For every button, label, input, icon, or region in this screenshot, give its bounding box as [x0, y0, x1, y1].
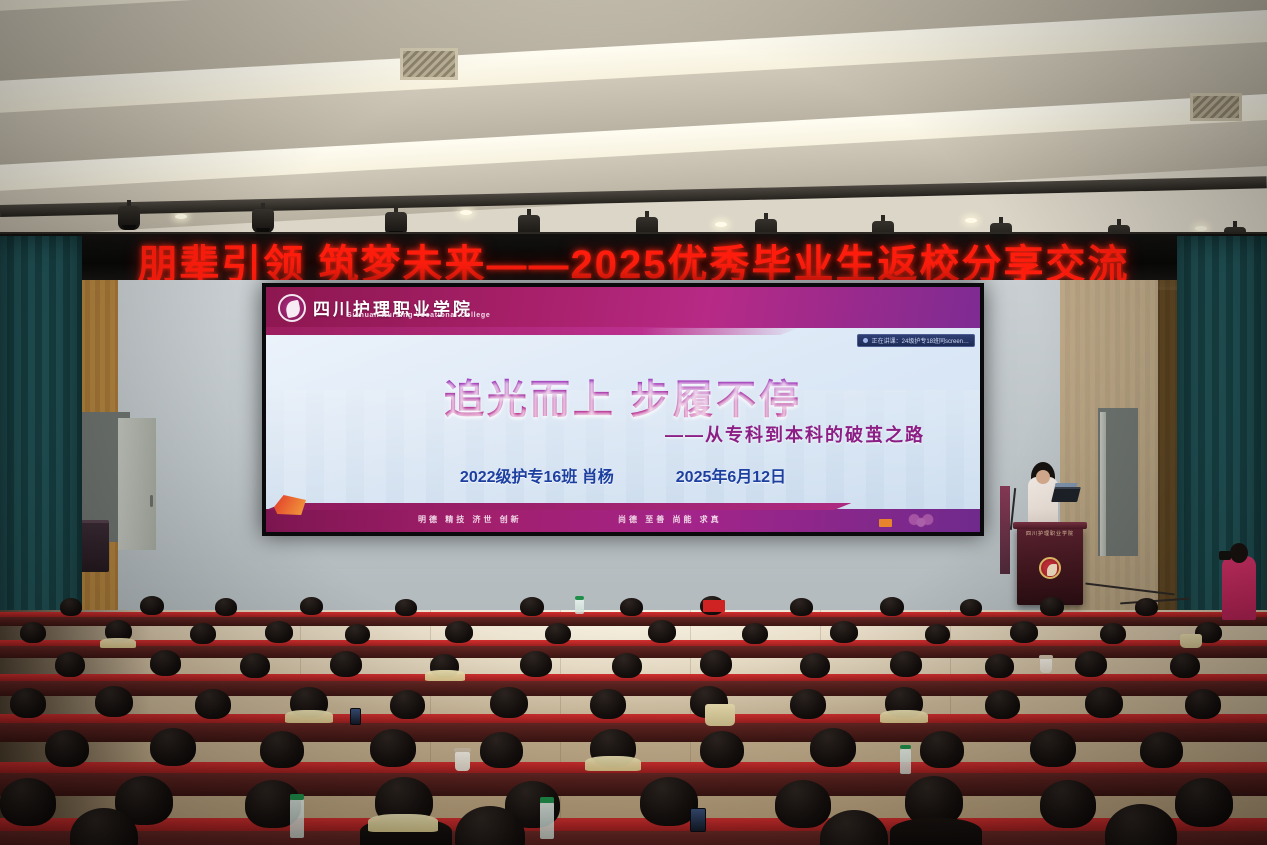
- projection-screen: 四川护理职业学院 Sichuan Nursing Vocational Coll…: [262, 283, 984, 536]
- college-logo-icon: [278, 294, 306, 322]
- college-name-en: Sichuan Nursing Vocational College: [347, 312, 490, 319]
- broadcast-dot-icon: [863, 338, 868, 343]
- podium-top: [1013, 522, 1087, 529]
- photographer-head: [1230, 543, 1248, 563]
- slide-meta: 2022级护专16班 肖杨 2025年6月12日: [266, 463, 980, 487]
- camera-icon: [1219, 551, 1231, 560]
- stage-light: [118, 200, 140, 230]
- slide-footer: 明德 精技 济世 创新 尚德 至善 尚能 求真: [266, 509, 980, 532]
- slide-title: 追光而上 步履不停: [266, 367, 980, 425]
- podium-nameplate: 四川护理职业学院: [1023, 529, 1077, 538]
- presentation-slide: 四川护理职业学院 Sichuan Nursing Vocational Coll…: [266, 287, 980, 532]
- footer-accent-tab: [879, 519, 892, 527]
- podium-laptop: [1051, 487, 1081, 502]
- audience-area: [0, 596, 1267, 845]
- slide-motto-left: 明德 精技 济世 创新: [418, 514, 522, 525]
- door-right[interactable]: [1100, 412, 1106, 556]
- ceiling-vent-right: [1190, 93, 1242, 121]
- slide-subtitle: ——从专科到本科的破茧之路: [665, 421, 925, 447]
- slide-motto-right: 尚德 至善 尚能 求真: [618, 514, 722, 525]
- slide-presenter: 2022级护专16班 肖杨: [460, 463, 614, 487]
- stage-side-banner: [1000, 486, 1010, 574]
- flower-ornament-icon: [904, 511, 938, 530]
- live-badge-text: 正在讲课：24级护专18班同screen…: [872, 336, 969, 345]
- slide-date: 2025年6月12日: [676, 463, 786, 487]
- presenter-face: [1036, 470, 1050, 484]
- curtain-left: [0, 236, 82, 656]
- photographer-body: [1222, 556, 1256, 620]
- stage-light: [252, 203, 274, 233]
- podium: 四川护理职业学院: [1017, 527, 1083, 605]
- podium-emblem-icon: [1039, 557, 1061, 579]
- slide-header: 四川护理职业学院 Sichuan Nursing Vocational Coll…: [266, 287, 980, 328]
- door-left[interactable]: [118, 418, 156, 550]
- live-broadcast-badge: 正在讲课：24级护专18班同screen…: [857, 334, 975, 347]
- ceiling-vent-left: [400, 48, 458, 80]
- auditorium-scene: 朋辈引领 筑梦未来——2025优秀毕业生返校分享交流 四川护理职业学院 Sich…: [0, 0, 1267, 845]
